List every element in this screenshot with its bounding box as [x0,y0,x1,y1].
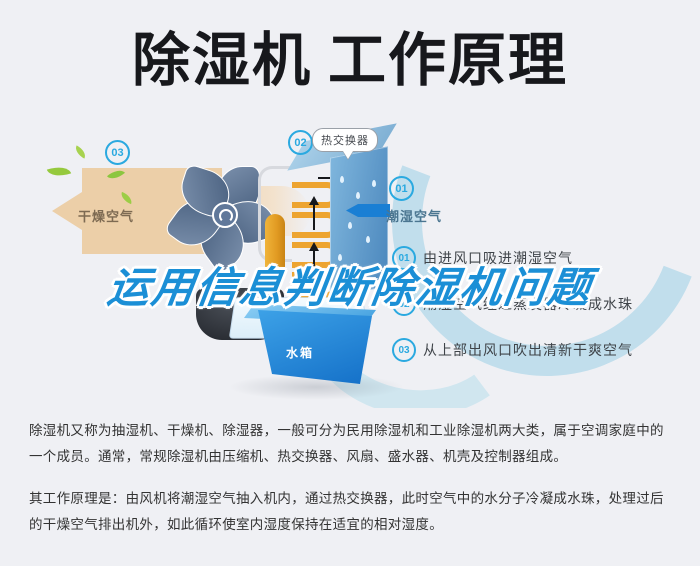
list-item: 03 从上部出风口吹出清新干爽空气 [392,338,692,362]
water-droplet-icon [366,236,370,243]
water-droplet-icon [356,192,360,199]
page-title: 除湿机工作原理 [0,26,700,96]
diagram-badge-03: 03 [105,140,130,165]
page-title-part2: 工作原理 [328,28,568,93]
flow-arrow-up-icon [309,242,319,251]
body-copy: 除湿机又称为抽湿机、干燥机、除湿器，一般可分为民用除湿机和工业除湿机两大类，属于… [29,418,675,538]
flow-arrow-stem [313,204,315,230]
diagram-badge-01: 01 [389,176,414,201]
water-droplet-icon [340,176,344,183]
flow-arrow-up-icon [309,196,319,205]
water-droplet-icon [338,254,342,261]
water-droplet-icon [348,222,352,229]
legend-label: 从上部出风口吹出清新干爽空气 [423,340,633,360]
body-paragraph-2: 其工作原理是：由风机将潮湿空气抽入机内，通过热交换器，此时空气中的水分子冷凝成水… [29,486,675,538]
dry-air-label: 干燥空气 [78,206,134,225]
leaf-icon [47,163,71,180]
body-paragraph-1: 除湿机又称为抽湿机、干燥机、除湿器，一般可分为民用除湿机和工业除湿机两大类，属于… [29,418,675,470]
page-root: 除湿机工作原理 干燥空气 [0,0,700,566]
legend-badge: 03 [392,338,416,362]
diagram-badge-02: 02 [288,130,313,155]
leaf-icon [73,145,88,158]
page-title-part1: 除湿机 [132,28,312,93]
fan-hub [212,202,238,228]
water-tank-label: 水箱 [286,344,314,361]
heat-exchanger-callout: 热交换器 [312,128,378,152]
water-droplet-icon [372,180,376,187]
humid-air-label: 潮湿空气 [386,206,442,225]
overlay-title: 运用信息判断除湿机问题 [0,262,700,314]
